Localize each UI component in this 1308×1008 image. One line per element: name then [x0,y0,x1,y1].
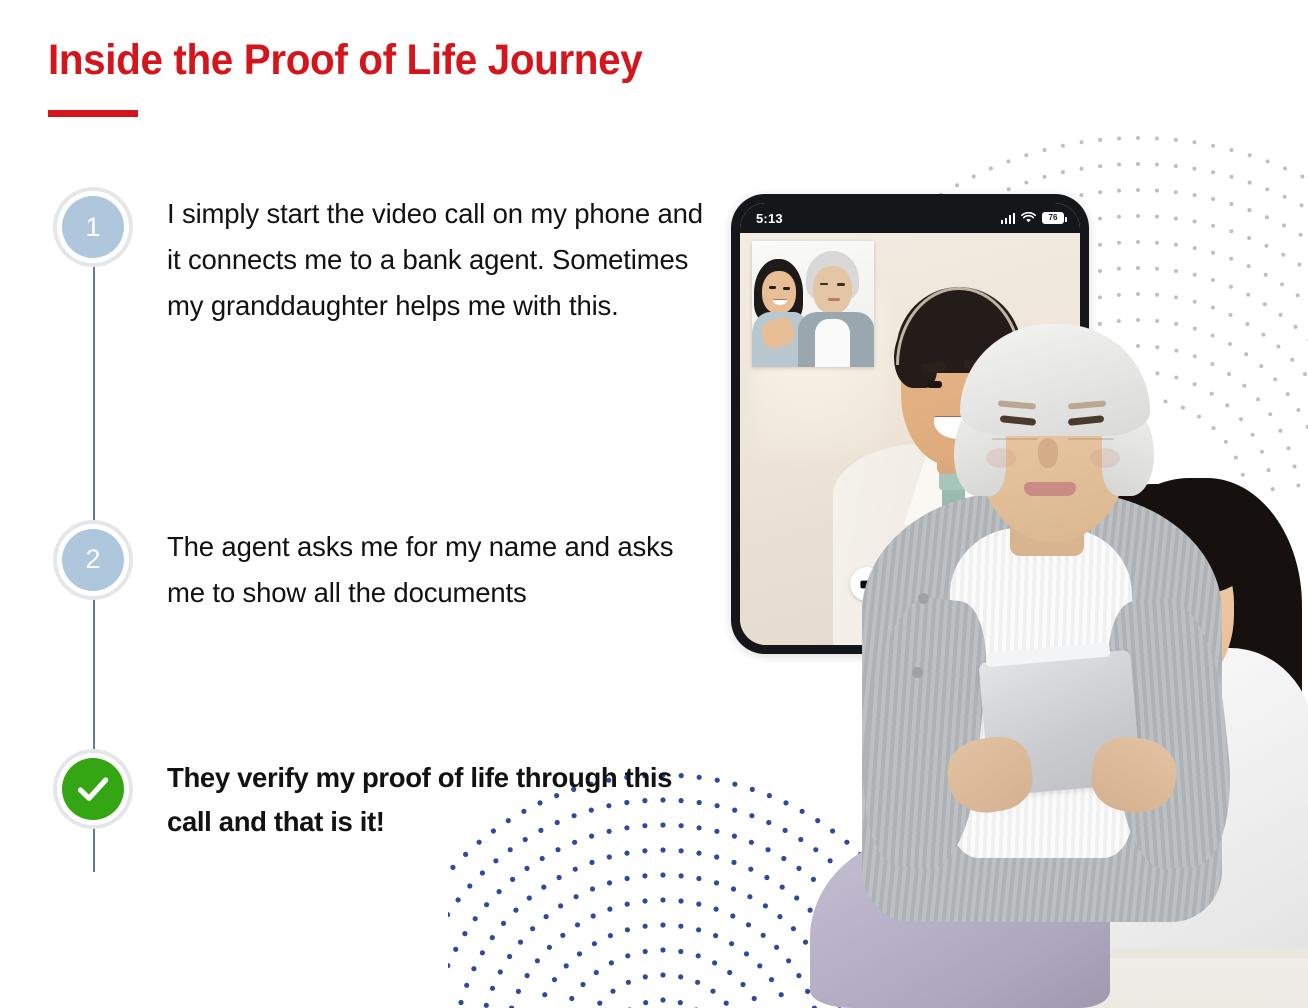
grandmother-wrinkle-left [992,438,1038,440]
title-block: Inside the Proof of Life Journey [48,36,680,117]
step-number-label: 1 [85,214,100,241]
battery-level-label: 76 [1049,214,1058,222]
slide-root: Inside the Proof of Life Journey 1 I sim… [0,0,1308,1008]
grandmother-figure [862,308,1222,1008]
step-marker-disc: 2 [62,529,124,591]
checkmark-icon [73,769,113,809]
step-text-1: I simply start the video call on my phon… [167,182,707,330]
step-marker-2: 2 [48,515,138,605]
phone-status-bar: 5:13 76 [740,203,1080,233]
cardigan-button-top [918,593,929,604]
status-bar-time: 5:13 [756,211,783,226]
step-marker-disc-complete [62,758,124,820]
page-title: Inside the Proof of Life Journey [48,36,642,84]
steps-list: 1 I simply start the video call on my ph… [48,182,708,845]
foreground-photo [772,260,1308,1008]
step-text-2: The agent asks me for my name and asks m… [167,515,707,616]
grandmother-cheek-left [986,448,1016,468]
title-accent-rule [48,110,138,117]
grandmother-wrinkle-right [1068,438,1114,440]
step-item-2: 2 The agent asks me for my name and asks… [48,515,708,616]
grandmother-mouth [1024,482,1076,496]
step-marker-3 [48,744,138,834]
status-bar-icons: 76 [1001,212,1065,224]
grandmother-cheek-right [1090,448,1120,468]
step-item-3: They verify my proof of life through thi… [48,744,708,845]
wifi-icon [1021,212,1036,224]
battery-icon: 76 [1042,212,1064,224]
step-number-label: 2 [85,546,100,573]
step-text-3: They verify my proof of life through thi… [167,744,707,845]
cardigan-button-bottom [912,667,923,678]
cellular-signal-icon [1001,213,1016,224]
step-marker-disc: 1 [62,196,124,258]
grandmother-nose [1038,438,1058,468]
grandmother-hair [960,324,1150,436]
step-item-1: 1 I simply start the video call on my ph… [48,182,708,330]
step-marker-1: 1 [48,182,138,272]
